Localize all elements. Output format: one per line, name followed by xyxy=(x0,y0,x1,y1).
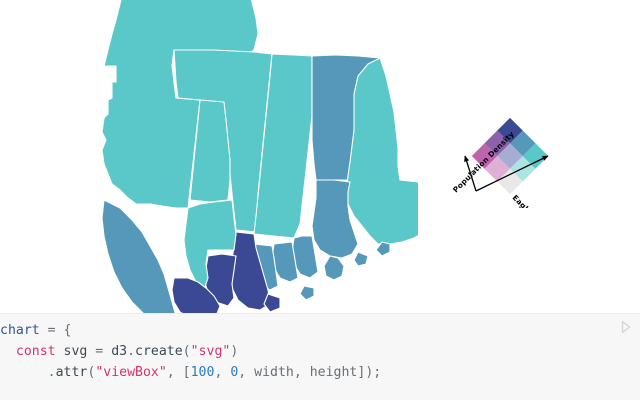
county-york[interactable] xyxy=(102,200,176,313)
island-group-a[interactable] xyxy=(354,252,368,266)
code-token: , xyxy=(214,365,230,380)
maine-choropleth-map[interactable] xyxy=(58,0,418,313)
code-line xyxy=(0,383,620,400)
code-token: { xyxy=(64,323,72,338)
code-token: , width, height]); xyxy=(238,365,381,380)
code-token: chart xyxy=(0,323,40,338)
code-token: "svg" xyxy=(191,344,231,359)
code-line: .attr("viewBox", [100, 0, width, height]… xyxy=(0,362,620,383)
code-token: . xyxy=(127,344,135,359)
code-token: ( xyxy=(183,344,191,359)
code-token: ) xyxy=(230,344,238,359)
code-token: = xyxy=(40,323,64,338)
code-line: const svg = d3.create("svg") xyxy=(0,341,620,362)
legend-label-eagle: Eagle Density xyxy=(511,193,560,208)
code-token: d3 xyxy=(111,344,127,359)
code-token: const xyxy=(16,344,56,359)
code-line: chart = { xyxy=(0,320,620,341)
code-token xyxy=(0,365,48,380)
bivariate-legend[interactable]: Population Density Eagle Density xyxy=(440,108,580,208)
island-group-b[interactable] xyxy=(300,286,314,300)
run-cell-icon[interactable] xyxy=(618,319,634,335)
code-token: attr xyxy=(56,365,88,380)
code-token: create xyxy=(135,344,183,359)
code-token: , [ xyxy=(167,365,191,380)
code-token: "viewBox" xyxy=(95,365,166,380)
code-token: = xyxy=(95,344,111,359)
code-editor[interactable]: chart = { const svg = d3.create("svg") .… xyxy=(0,320,620,400)
county-washington[interactable] xyxy=(346,58,418,244)
code-token xyxy=(0,344,16,359)
figure-output-area: Population Density Eagle Density xyxy=(0,0,640,313)
code-token: svg xyxy=(56,344,96,359)
island-mount-desert[interactable] xyxy=(324,256,344,280)
island-group-c[interactable] xyxy=(264,294,280,312)
notebook-page: Population Density Eagle Density chart =… xyxy=(0,0,640,400)
code-cell[interactable]: chart = { const svg = d3.create("svg") .… xyxy=(0,313,640,400)
code-token: 100 xyxy=(191,365,215,380)
code-token: . xyxy=(48,365,56,380)
